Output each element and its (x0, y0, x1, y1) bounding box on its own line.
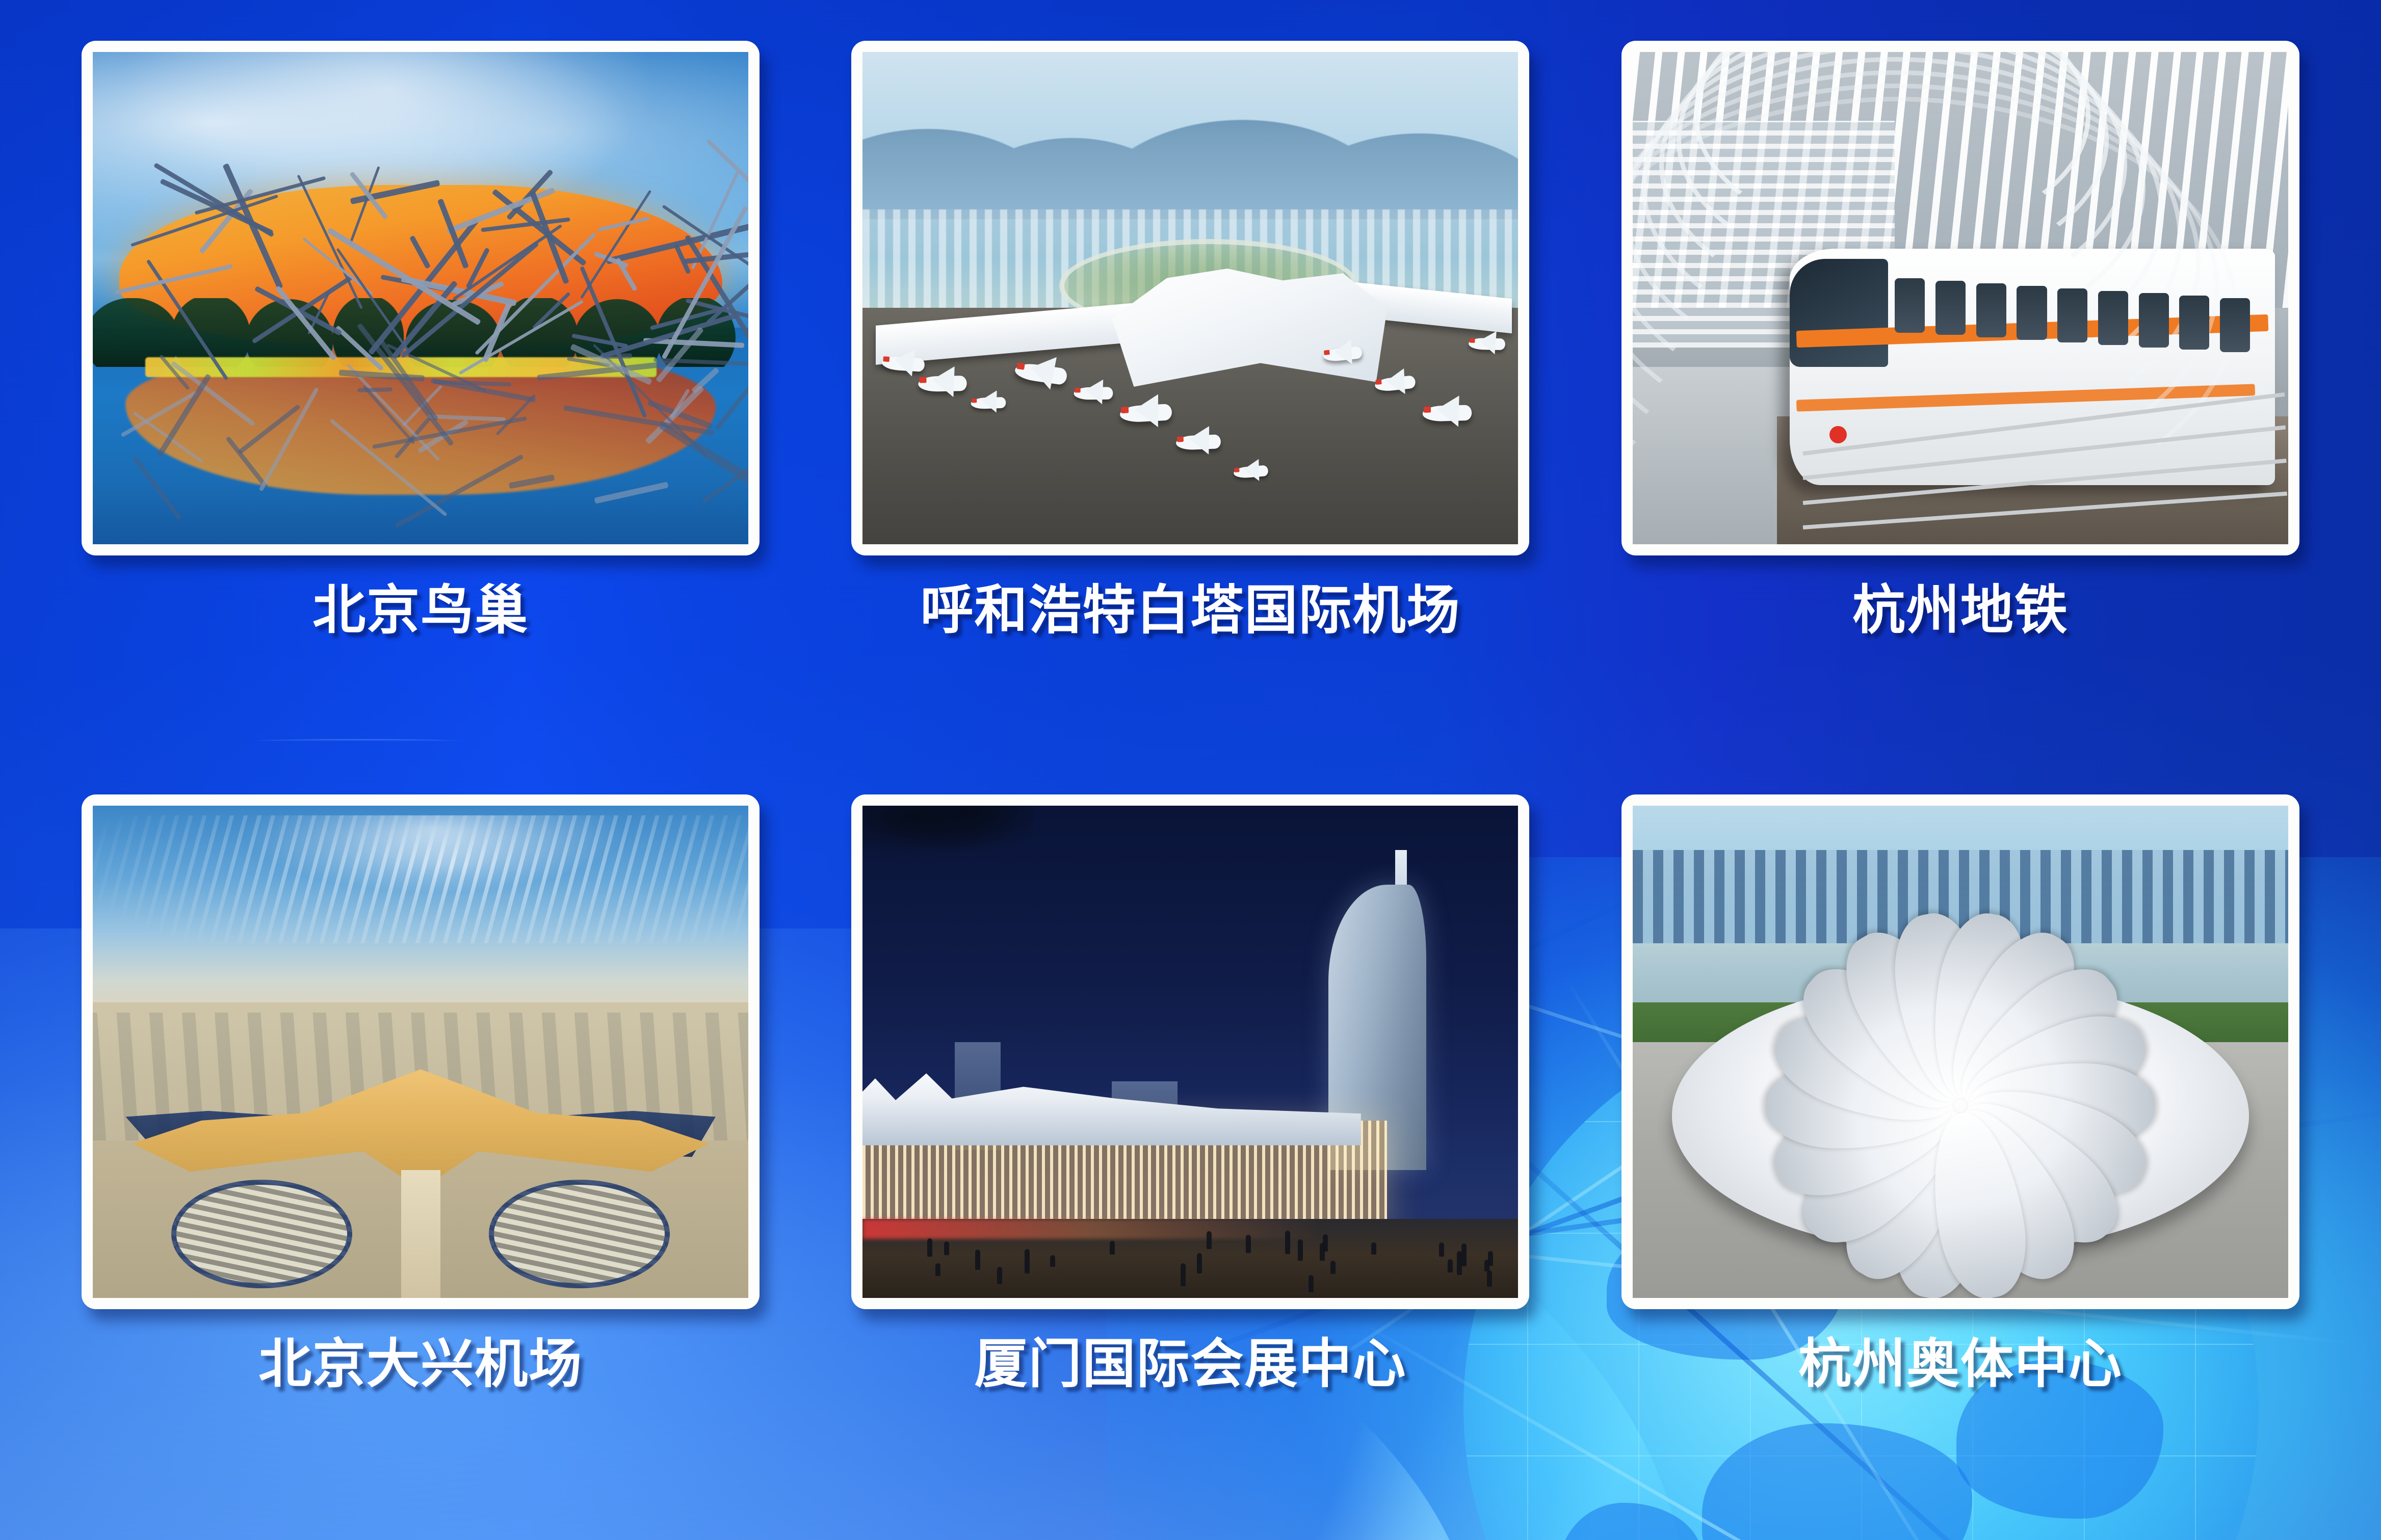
gallery-item-beijing-daxing-airport[interactable]: 北京大兴机场 (36, 780, 805, 1520)
gallery-grid: 北京鸟巢 呼和浩特白塔国际机场 (0, 0, 2381, 1540)
gallery-item-hangzhou-metro[interactable]: 杭州地铁 (1576, 41, 2345, 780)
gallery-item-xiamen-convention-center[interactable]: 厦门国际会展中心 (805, 780, 1575, 1520)
photo-hangzhou-metro (1633, 52, 2288, 544)
photo-xiamen-convention-center (862, 806, 1518, 1298)
caption-label: 北京大兴机场 (258, 1338, 583, 1391)
photo-beijing-birds-nest (93, 52, 748, 544)
slide-canvas: 北京鸟巢 呼和浩特白塔国际机场 (0, 0, 2381, 1540)
photo-card[interactable] (1621, 794, 2299, 1309)
photo-card[interactable] (1621, 41, 2299, 555)
photo-hohhot-baita-airport (862, 52, 1518, 544)
caption-label: 杭州奥体中心 (1798, 1338, 2123, 1391)
caption-label: 杭州地铁 (1852, 584, 2069, 637)
photo-card[interactable] (82, 794, 760, 1309)
photo-card[interactable] (82, 41, 760, 555)
gallery-item-hangzhou-olympic-center[interactable]: 杭州奥体中心 (1576, 780, 2345, 1520)
caption-label: 北京鸟巢 (312, 584, 529, 637)
photo-card[interactable] (851, 41, 1529, 555)
caption-label: 呼和浩特白塔国际机场 (920, 584, 1460, 637)
photo-hangzhou-olympic-center (1633, 806, 2288, 1298)
gallery-item-hohhot-baita-airport[interactable]: 呼和浩特白塔国际机场 (805, 41, 1575, 780)
gallery-item-beijing-birds-nest[interactable]: 北京鸟巢 (36, 41, 805, 780)
photo-beijing-daxing-airport (93, 806, 748, 1298)
photo-card[interactable] (851, 794, 1529, 1309)
caption-label: 厦门国际会展中心 (974, 1338, 1406, 1391)
